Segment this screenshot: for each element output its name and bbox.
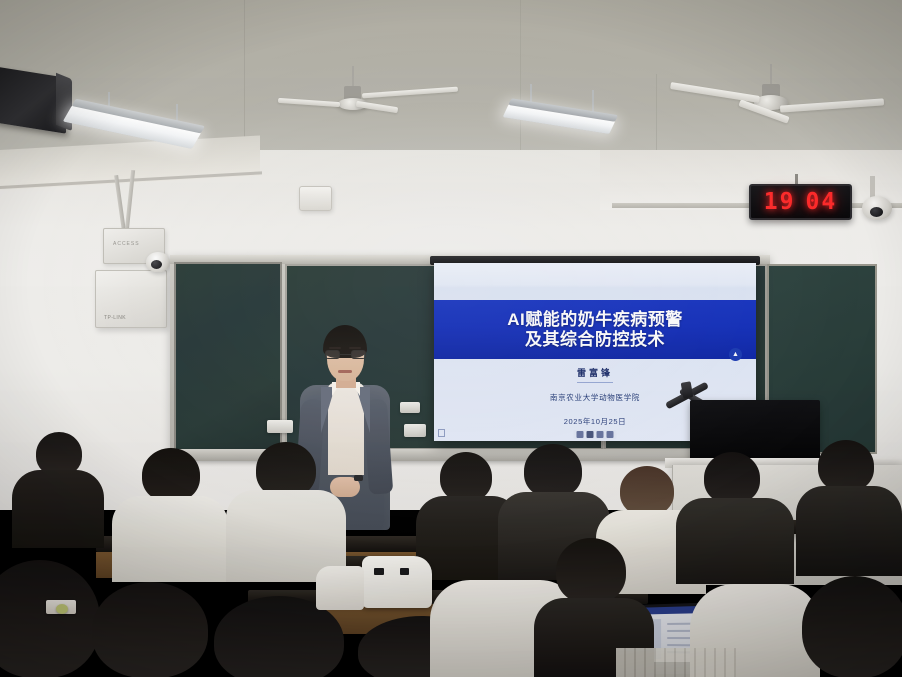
white-bag bbox=[316, 566, 364, 610]
head bbox=[142, 448, 200, 502]
presenter-brow-left bbox=[329, 347, 341, 349]
presenter-mouth bbox=[338, 370, 352, 373]
slide-taskbar[interactable] bbox=[574, 430, 617, 439]
dome-camera-icon bbox=[146, 252, 170, 272]
head bbox=[704, 452, 760, 504]
head bbox=[818, 440, 874, 492]
folder-icon[interactable] bbox=[587, 431, 594, 438]
camera-lens-icon bbox=[870, 207, 883, 217]
side-monitor bbox=[690, 400, 820, 462]
slide-corner-mark bbox=[438, 429, 445, 437]
camera-mount bbox=[870, 176, 875, 198]
lens-left bbox=[325, 350, 340, 359]
clock-hours: 19 bbox=[764, 189, 796, 215]
chalk-eraser[interactable] bbox=[400, 402, 420, 413]
head bbox=[556, 538, 626, 604]
ceiling-fan-icon bbox=[300, 78, 500, 128]
plaid-garment bbox=[616, 648, 736, 677]
wristwatch-icon bbox=[354, 475, 363, 481]
bag-logo bbox=[374, 568, 384, 575]
camera-lens-icon bbox=[151, 260, 162, 269]
smoke-detector-icon bbox=[299, 186, 332, 211]
cabinet-brand-label: TP-LINK bbox=[104, 315, 126, 321]
slide-date: 2025年10月25日 bbox=[564, 416, 626, 427]
chalkboard-panel-left bbox=[174, 262, 282, 452]
head bbox=[92, 582, 208, 677]
bag-logo bbox=[400, 568, 409, 575]
head bbox=[802, 576, 902, 677]
torso bbox=[796, 486, 902, 576]
ceiling-fan-icon bbox=[640, 72, 890, 132]
app-icon[interactable] bbox=[597, 431, 604, 438]
presenter-brow-right bbox=[349, 347, 361, 349]
slide-title-line2: 及其综合防控技术 bbox=[525, 330, 665, 350]
app-badge-icon[interactable]: ▲ bbox=[729, 348, 742, 361]
slide-title-line1: AI赋能的奶牛疾病预警 bbox=[507, 310, 683, 330]
chalk-eraser[interactable] bbox=[267, 420, 293, 433]
torso bbox=[676, 498, 794, 584]
white-bag bbox=[362, 556, 432, 608]
slide-presenter-name: 雷富锋 bbox=[577, 366, 613, 383]
network-cabinet[interactable]: TP-LINK bbox=[95, 270, 167, 328]
head bbox=[524, 444, 582, 498]
ceiling-seam bbox=[244, 0, 245, 150]
doc-icon[interactable] bbox=[607, 431, 614, 438]
hair-pin-icon bbox=[56, 604, 68, 614]
slide-organization: 南京农业大学动物医学院 bbox=[550, 392, 640, 403]
ceiling-seam bbox=[520, 0, 521, 150]
ptz-camera-icon bbox=[862, 196, 892, 220]
head bbox=[0, 560, 100, 677]
head bbox=[620, 466, 674, 516]
chalk-eraser[interactable] bbox=[404, 424, 426, 437]
torso bbox=[12, 470, 104, 548]
clock-minutes: 04 bbox=[806, 189, 838, 215]
wall-panel-label: ACCESS bbox=[113, 241, 140, 247]
head bbox=[440, 452, 492, 502]
slide-title: AI赋能的奶牛疾病预警 及其综合防控技术 bbox=[434, 302, 756, 357]
lens-right bbox=[351, 350, 366, 359]
lecture-hall-photo: ACCESS TP-LINK 19 04 AI赋能的奶牛疾病预警 及其综合防控技… bbox=[0, 0, 902, 677]
eyeglasses-icon bbox=[325, 350, 366, 359]
glasses-bridge bbox=[340, 354, 351, 355]
digital-wall-clock: 19 04 bbox=[749, 184, 852, 220]
torso bbox=[112, 496, 228, 582]
window-icon[interactable] bbox=[577, 431, 584, 438]
